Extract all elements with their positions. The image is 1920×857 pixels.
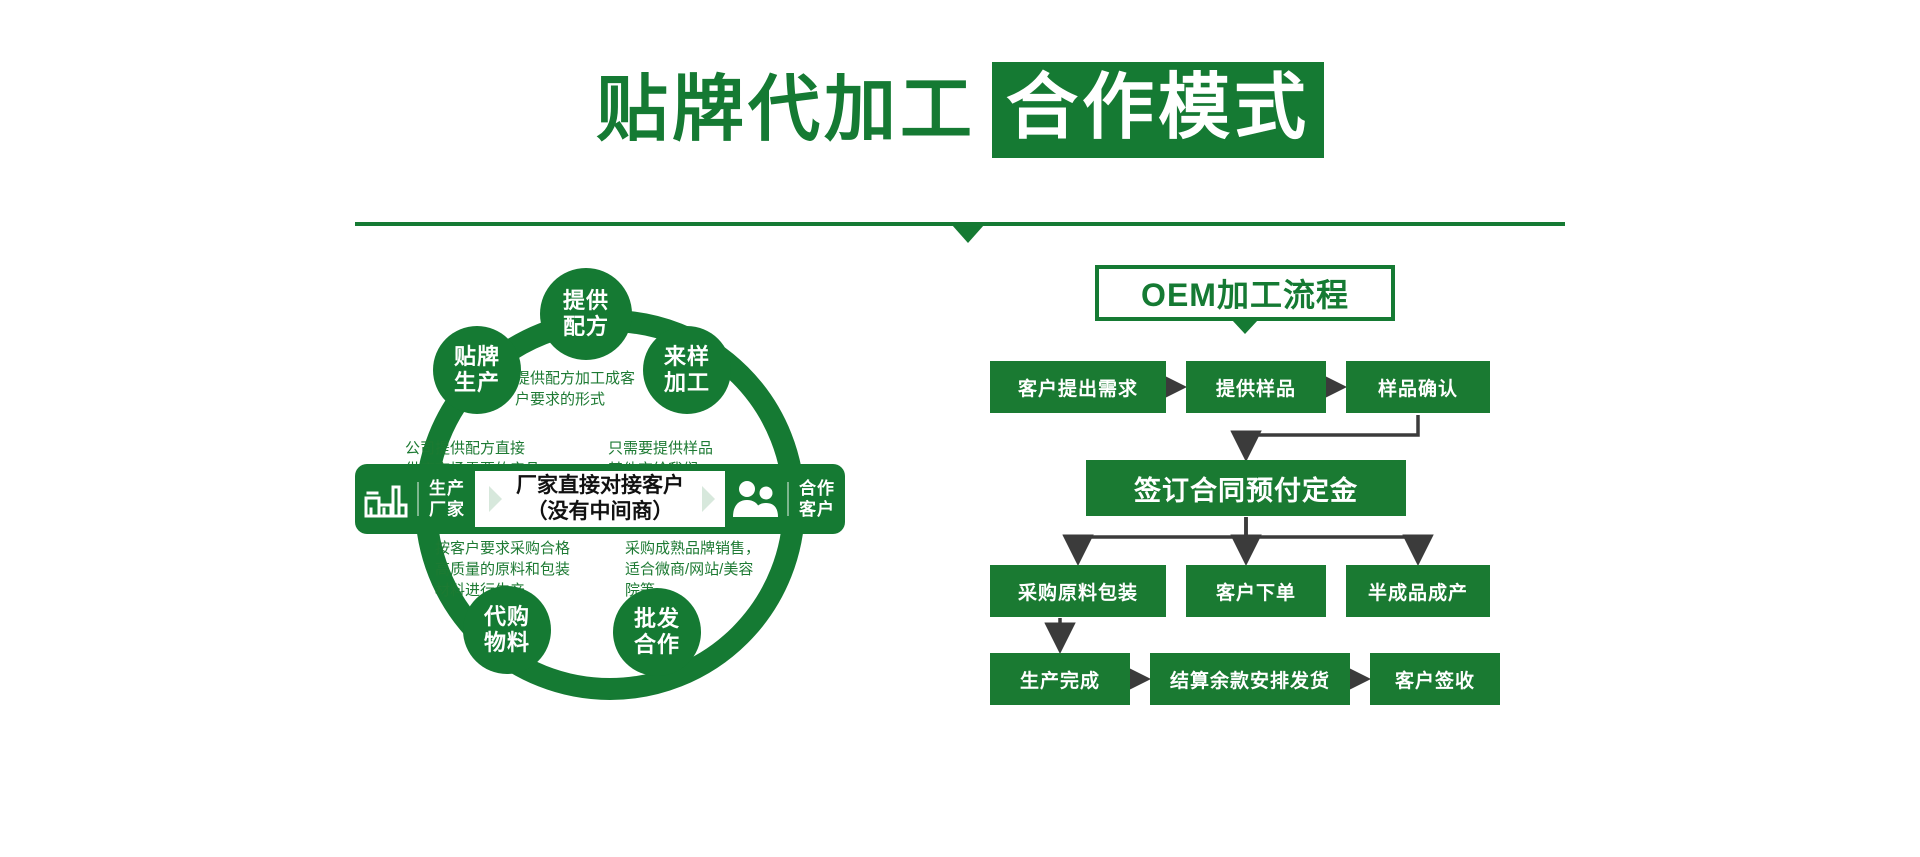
cycle-node-line2: 生产 xyxy=(454,370,500,396)
cycle-node-line1: 贴牌 xyxy=(454,344,500,370)
cycle-node-material-purchase[interactable]: 代购 物料 xyxy=(463,586,551,674)
flow-step-sample-confirm[interactable]: 样品确认 xyxy=(1346,361,1490,413)
center-bar-right-group: 合作 客户 xyxy=(725,464,845,534)
oem-flowchart: OEM加工流程 xyxy=(990,265,1510,785)
cycle-node-line1: 代购 xyxy=(484,604,530,630)
chevron-right-icon-right xyxy=(702,486,715,512)
flow-step-customer-receipt[interactable]: 客户签收 xyxy=(1370,653,1500,705)
center-bar-left-label: 生产 厂家 xyxy=(419,478,475,520)
flow-step-customer-requirement[interactable]: 客户提出需求 xyxy=(990,361,1166,413)
cycle-node-line1: 批发 xyxy=(634,606,680,632)
center-bar-right-label: 合作 客户 xyxy=(789,478,845,520)
center-bar-message-line2: （没有中间商） xyxy=(516,499,684,525)
cycle-node-oem-production[interactable]: 贴牌 生产 xyxy=(433,326,521,414)
page-title-highlight: 合作模式 xyxy=(992,62,1324,158)
cycle-node-sample-processing[interactable]: 来样 加工 xyxy=(643,326,731,414)
cycle-node-line1: 来样 xyxy=(664,344,710,370)
page-title: 贴牌代加工 合作模式 xyxy=(0,62,1920,158)
center-bar-right-label-line1: 合作 xyxy=(799,479,835,498)
flowchart-connectors xyxy=(990,265,1510,785)
chevron-right-icon-left xyxy=(489,486,502,512)
cycle-node-supply-formula[interactable]: 提供 配方 xyxy=(540,268,632,360)
cycle-node-line2: 加工 xyxy=(664,370,710,396)
center-bar-left-label-line1: 生产 xyxy=(429,479,465,498)
center-bar-message: 厂家直接对接客户 （没有中间商） xyxy=(475,471,725,527)
cycle-diagram: 提供配方加工成客 户要求的形式 公司提供配方直接 供应市场需要的产品 只需要提供… xyxy=(355,268,875,788)
cycle-caption-bottom-left: 按客户要求采购合格 高质量的原料和包装 材料进行生产 xyxy=(435,538,635,601)
flow-step-production-complete[interactable]: 生产完成 xyxy=(990,653,1130,705)
people-icon xyxy=(725,464,787,534)
center-bar-left-label-line2: 厂家 xyxy=(429,500,465,519)
flow-step-customer-order[interactable]: 客户下单 xyxy=(1186,565,1326,617)
infographic-canvas: 贴牌代加工 合作模式 提供配方加工成客 户要求的形式 公司提供配方直接 供应市场… xyxy=(0,0,1920,857)
cycle-node-line2: 合作 xyxy=(634,632,680,658)
factory-icon xyxy=(355,464,417,534)
flow-step-settle-and-ship[interactable]: 结算余款安排发货 xyxy=(1150,653,1350,705)
flow-step-provide-sample[interactable]: 提供样品 xyxy=(1186,361,1326,413)
cycle-node-line2: 配方 xyxy=(563,314,609,340)
center-bar-right-label-line2: 客户 xyxy=(799,500,835,519)
flow-step-sign-contract-deposit[interactable]: 签订合同预付定金 xyxy=(1086,460,1406,516)
center-bar: 生产 厂家 厂家直接对接客户 （没有中间商） xyxy=(355,464,845,534)
divider-arrow-icon xyxy=(952,225,984,243)
cycle-node-wholesale[interactable]: 批发 合作 xyxy=(613,588,701,676)
page-title-primary: 贴牌代加工 xyxy=(596,74,976,146)
cycle-node-line2: 物料 xyxy=(484,630,530,656)
flow-step-purchase-materials[interactable]: 采购原料包装 xyxy=(990,565,1166,617)
cycle-node-line1: 提供 xyxy=(563,288,609,314)
center-bar-message-line1: 厂家直接对接客户 xyxy=(516,473,684,499)
flow-step-semi-finished[interactable]: 半成品成产 xyxy=(1346,565,1490,617)
section-divider xyxy=(355,222,1565,244)
